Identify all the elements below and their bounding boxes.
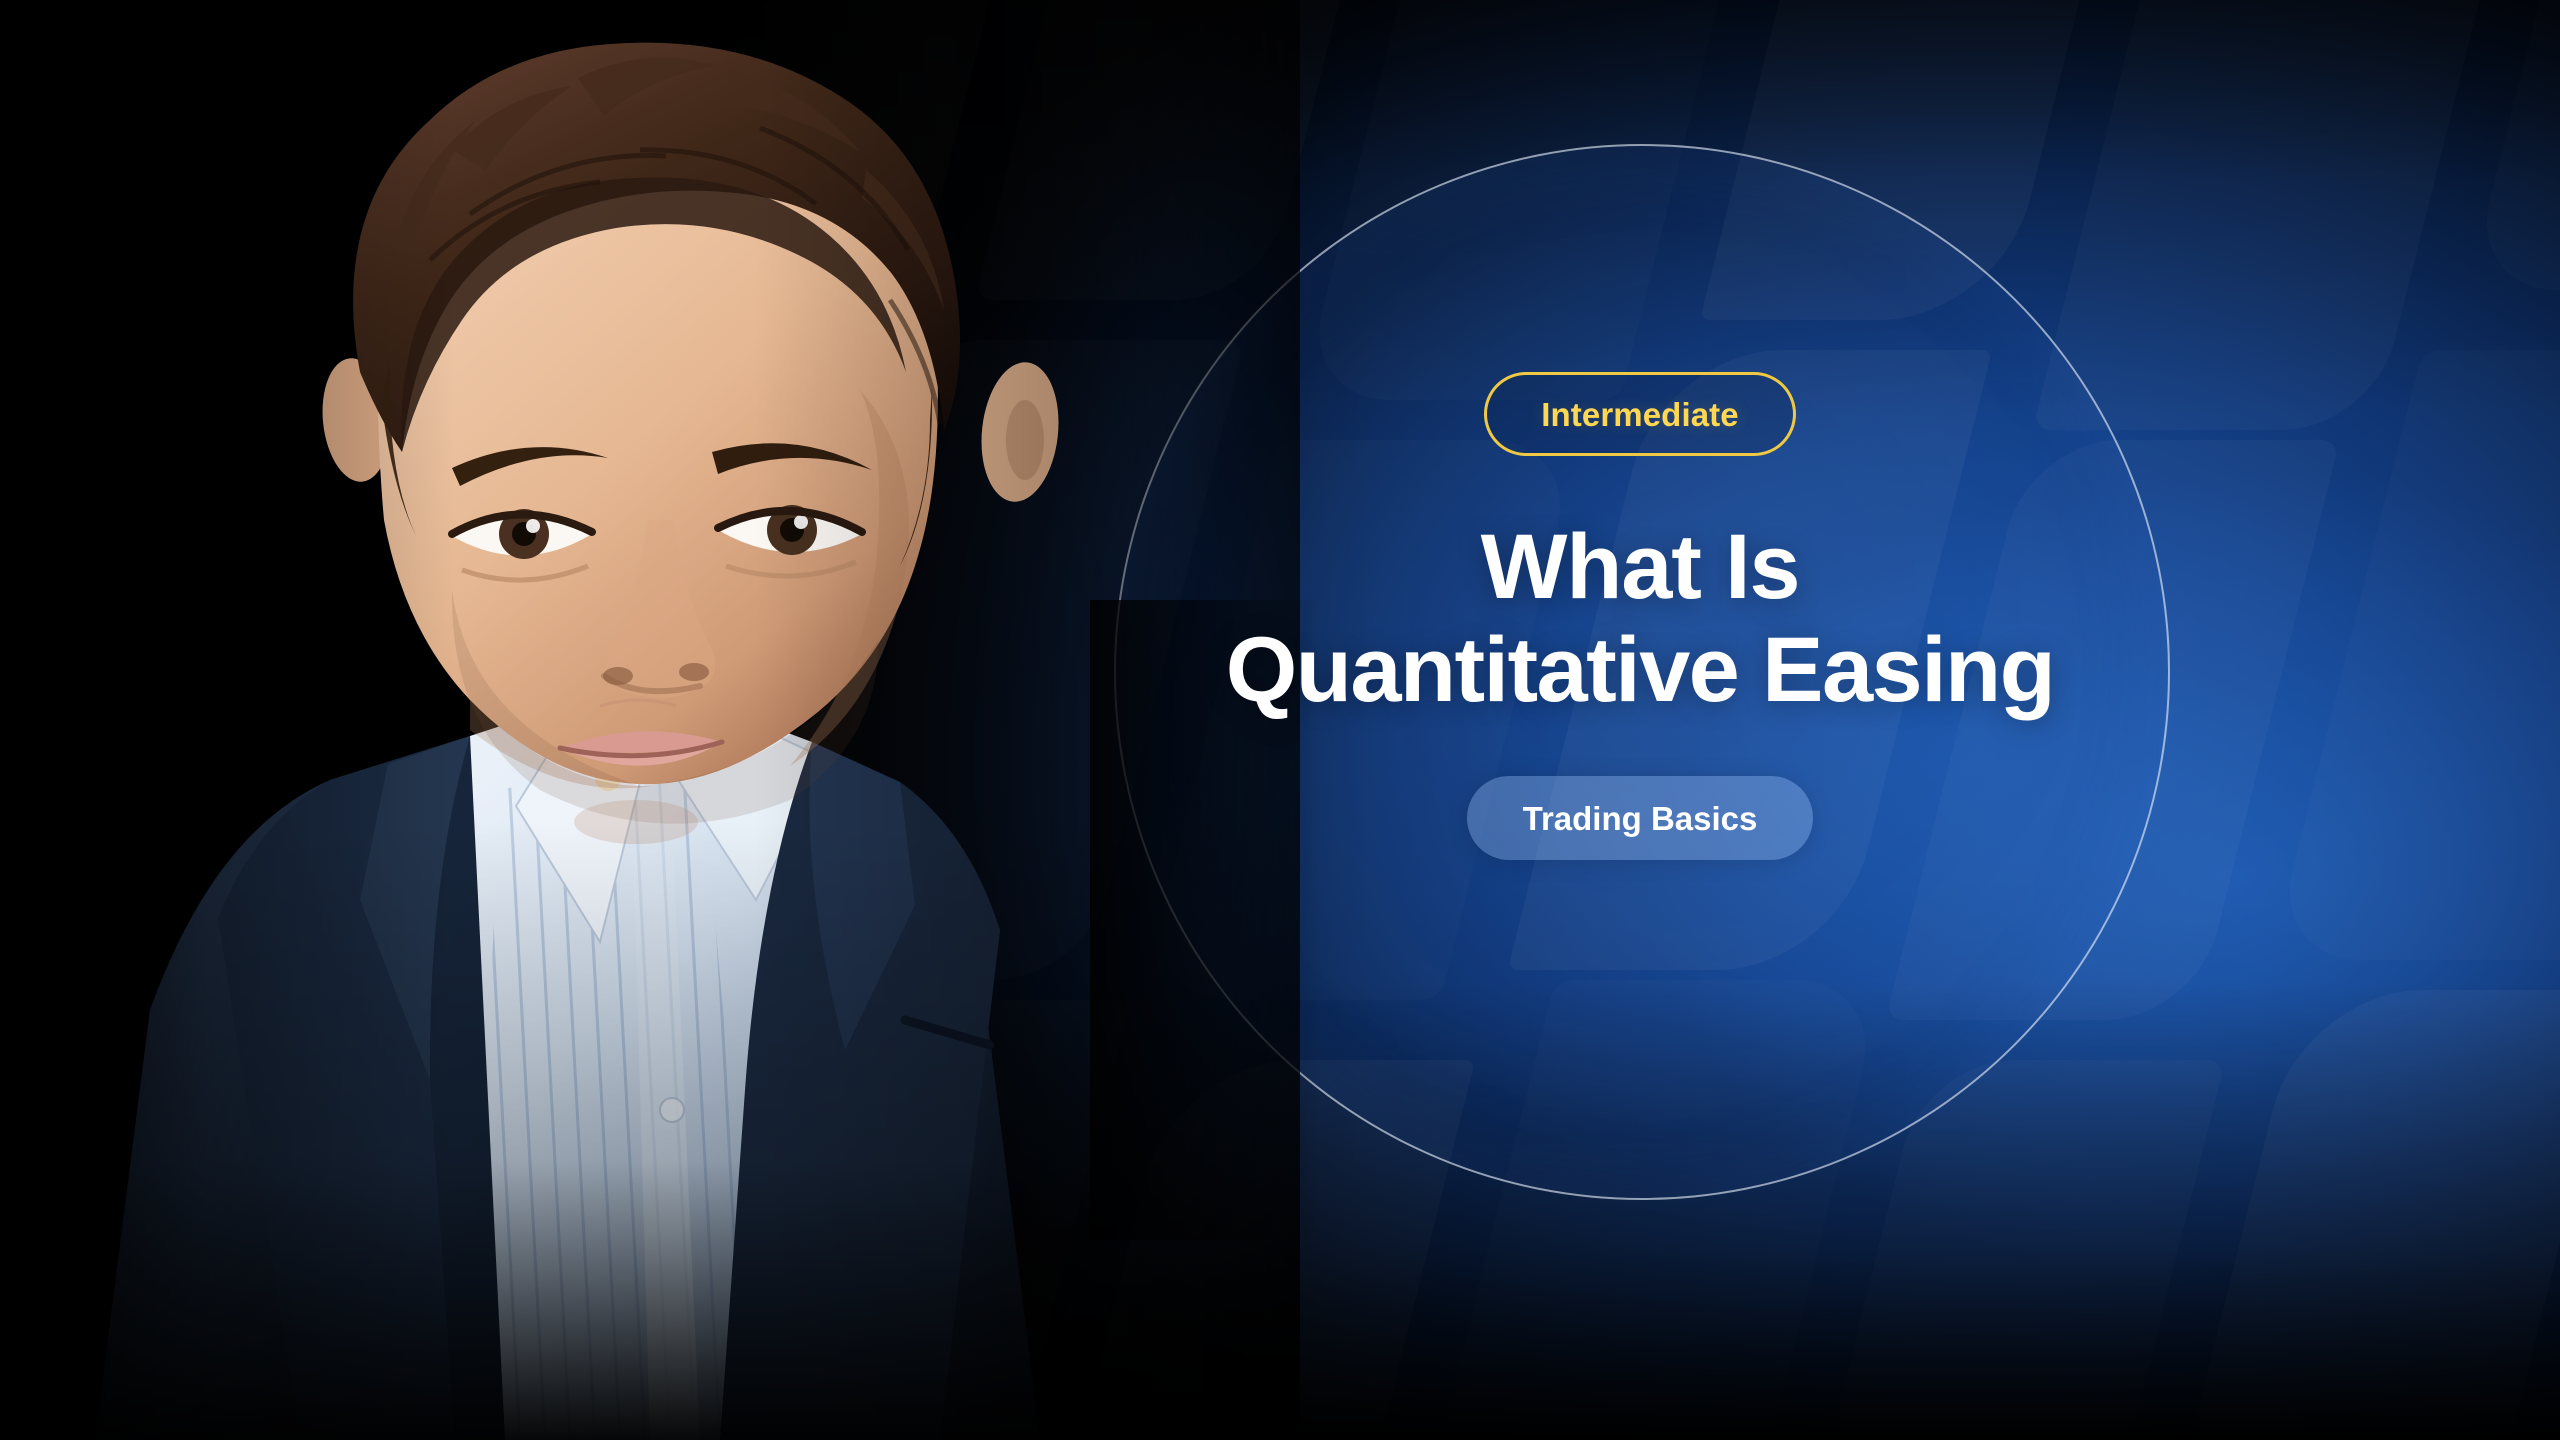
page-title: What Is Quantitative Easing <box>1226 516 2054 722</box>
page-title-line-2: Quantitative Easing <box>1226 619 2054 722</box>
hero-banner: Intermediate What Is Quantitative Easing… <box>0 0 2560 1440</box>
page-title-line-1: What Is <box>1226 516 2054 619</box>
category-pill[interactable]: Trading Basics <box>1467 776 1814 860</box>
level-badge: Intermediate <box>1484 372 1795 456</box>
